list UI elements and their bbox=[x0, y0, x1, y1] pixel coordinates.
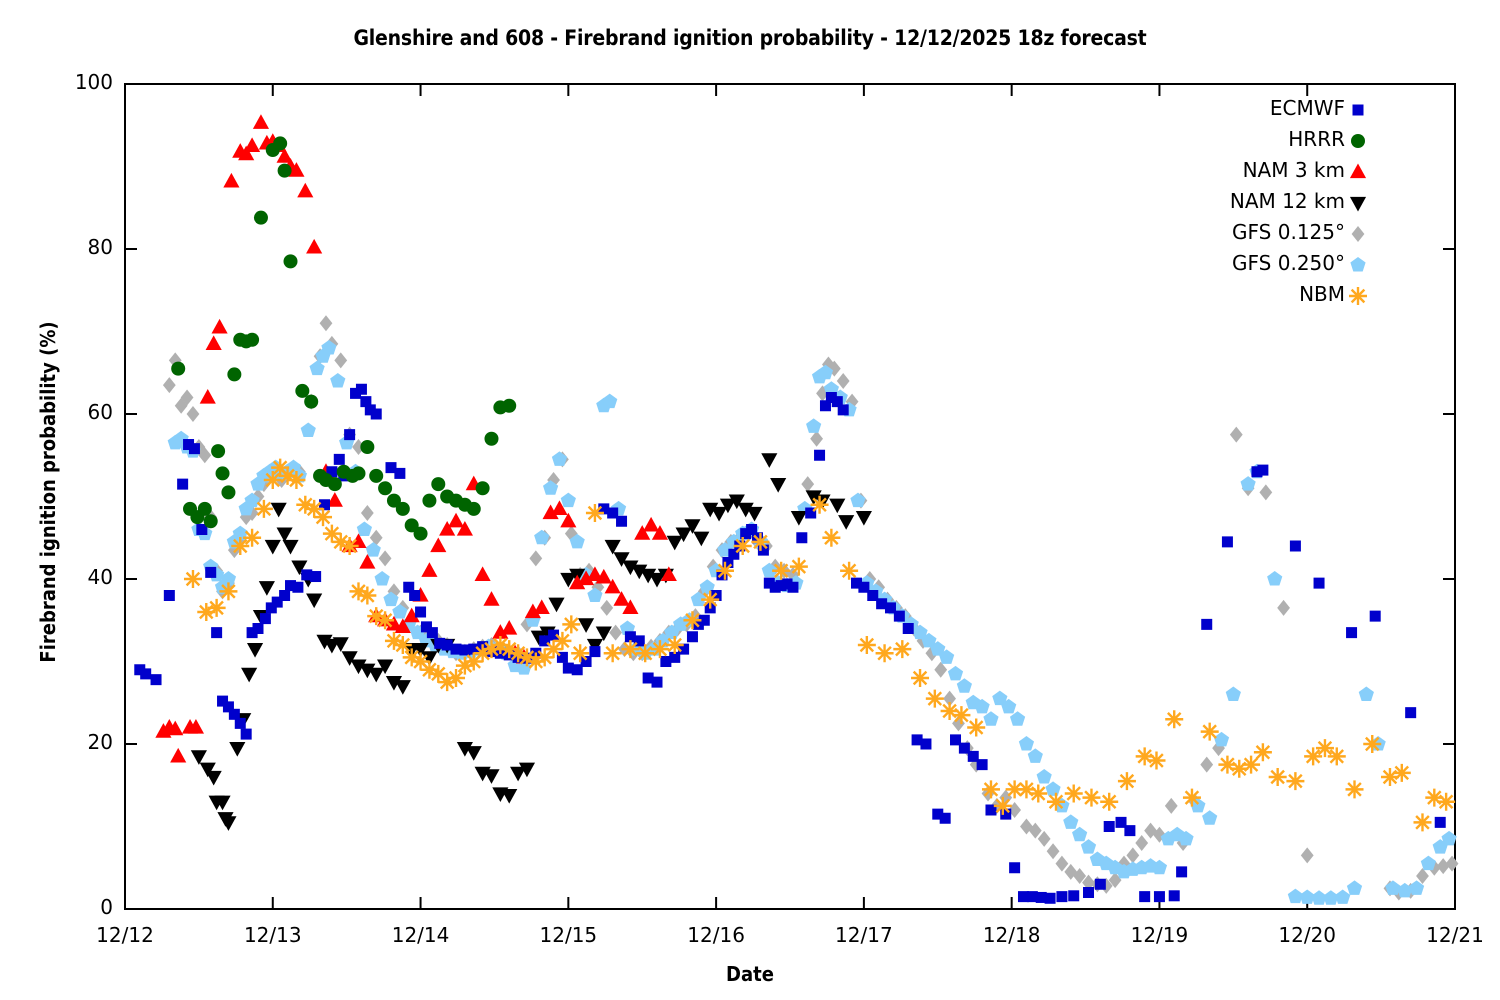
x-tick-label: 12/16 bbox=[656, 923, 776, 947]
legend-label-nam-12-km[interactable]: NAM 12 km bbox=[1165, 189, 1345, 213]
legend-label-hrrr[interactable]: HRRR bbox=[1165, 127, 1345, 151]
legend-label-nbm[interactable]: NBM bbox=[1165, 282, 1345, 306]
legend-label-gfs-0-250[interactable]: GFS 0.250° bbox=[1165, 251, 1345, 275]
series-gfs-0-125 bbox=[163, 315, 1459, 900]
y-tick-label: 40 bbox=[53, 565, 113, 589]
y-tick-label: 60 bbox=[53, 400, 113, 424]
legend-label-ecmwf[interactable]: ECMWF bbox=[1165, 96, 1345, 120]
x-tick-label: 12/20 bbox=[1247, 923, 1367, 947]
x-tick-label: 12/15 bbox=[508, 923, 628, 947]
series-gfs-0-250 bbox=[168, 340, 1457, 905]
series-nbm bbox=[184, 459, 1455, 832]
y-tick-label: 100 bbox=[53, 70, 113, 94]
x-tick-label: 12/13 bbox=[213, 923, 333, 947]
x-tick-label: 12/14 bbox=[361, 923, 481, 947]
series-nam-12-km bbox=[191, 453, 872, 831]
x-tick-label: 12/17 bbox=[804, 923, 924, 947]
chart-container: Glenshire and 608 - Firebrand ignition p… bbox=[0, 0, 1500, 1000]
x-tick-label: 12/19 bbox=[1099, 923, 1219, 947]
legend-label-nam-3-km[interactable]: NAM 3 km bbox=[1165, 158, 1345, 182]
y-tick-label: 20 bbox=[53, 730, 113, 754]
y-tick-label: 80 bbox=[53, 235, 113, 259]
x-tick-label: 12/12 bbox=[65, 923, 185, 947]
x-tick-label: 12/21 bbox=[1395, 923, 1500, 947]
legend-label-gfs-0-125[interactable]: GFS 0.125° bbox=[1165, 220, 1345, 244]
y-tick-label: 0 bbox=[53, 895, 113, 919]
x-tick-label: 12/18 bbox=[952, 923, 1072, 947]
